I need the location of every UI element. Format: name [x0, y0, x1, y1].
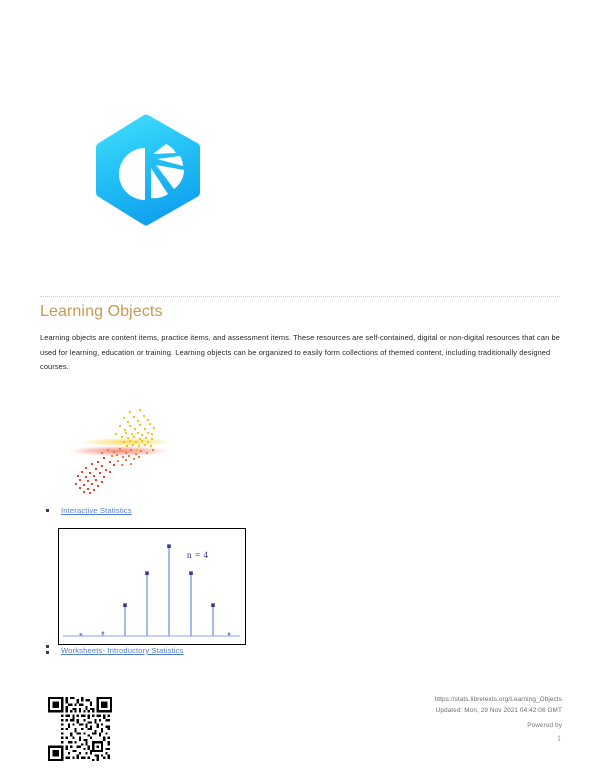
footer-updated: Updated: Mon, 29 Nov 2021 04:42:06 GMT — [262, 705, 562, 716]
qr-code[interactable] — [48, 697, 112, 761]
intro-paragraph: Learning objects are content items, prac… — [40, 331, 562, 375]
bullet-icon — [46, 509, 49, 512]
footer-metadata: https://stats.libretexts.org/Learning_Ob… — [262, 694, 562, 717]
stemplot-annotation: n = 4 — [187, 550, 209, 560]
worksheets-introductory-statistics-stemplot-thumbnail[interactable]: n = 4 — [58, 528, 246, 645]
interactive-statistics-scatter-thumbnail[interactable] — [67, 397, 173, 496]
footer-url[interactable]: https://stats.libretexts.org/Learning_Ob… — [262, 694, 562, 705]
link-interactive-statistics[interactable]: Interactive Statistics — [61, 506, 132, 515]
bullet-icon — [46, 651, 49, 654]
link-worksheets-introductory-statistics[interactable]: Worksheets- Introductory Statistics — [61, 646, 183, 655]
page-title: Learning Objects — [40, 303, 163, 321]
powered-by-label: Powered by — [527, 722, 562, 729]
section-divider — [40, 296, 560, 298]
document-page: Learning Objects Learning objects are co… — [0, 0, 600, 776]
bullet-icon — [46, 645, 49, 648]
libretexts-statistics-hexagon-logo-icon — [88, 112, 208, 228]
page-number: 1 — [557, 734, 561, 743]
